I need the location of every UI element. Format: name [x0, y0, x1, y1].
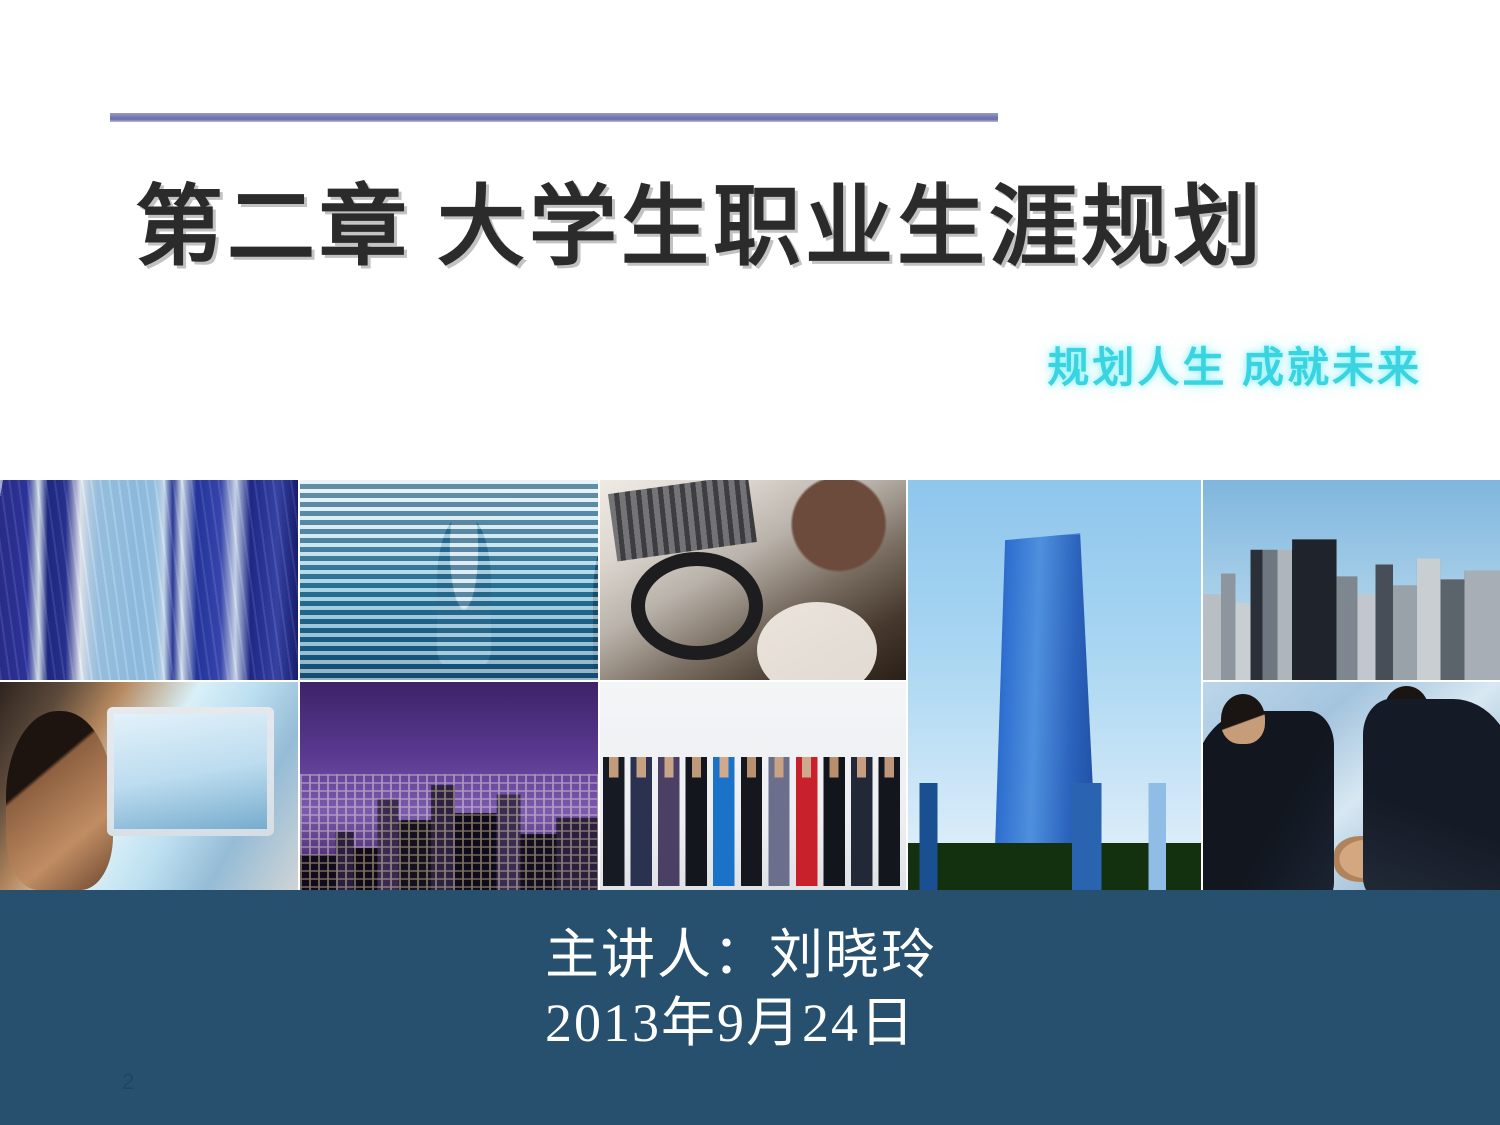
collage-tile-night-city-skyline [300, 682, 598, 890]
colleagues-blinds-image [300, 480, 598, 680]
collage-tile-business-handshake [1203, 682, 1500, 890]
footer-band: 主讲人：刘晓玲 2013年9月24日 [0, 890, 1500, 1125]
collage-tile-grey-city-skyline [1203, 480, 1500, 680]
business-people-row-image [600, 682, 906, 890]
collage-tile-glass-towers-looking-up [0, 480, 298, 680]
title-area: 第二章 大学生职业生涯规划 规划人生 成就未来 [0, 0, 1500, 480]
page-subtitle: 规划人生 成就未来 [1047, 334, 1422, 395]
desk-phone-image [600, 480, 906, 680]
glass-towers-image [0, 480, 298, 680]
night-city-image [300, 682, 598, 890]
collage-tile-colleagues-behind-blinds [300, 480, 598, 680]
presenter-block: 主讲人：刘晓玲 2013年9月24日 [545, 922, 937, 1057]
page-number: 2 [122, 1071, 134, 1093]
slide-canvas: 第二章 大学生职业生涯规划 规划人生 成就未来 [0, 0, 1500, 1125]
image-collage [0, 480, 1500, 890]
collage-tile-tall-blue-skyscraper [908, 480, 1201, 890]
handshake-person-right [1384, 686, 1429, 736]
presenter-name: 主讲人：刘晓玲 [545, 922, 937, 990]
collage-tile-hands-on-desk-phone [600, 480, 906, 680]
woman-on-phone-image [0, 682, 298, 890]
handshake-hands [1334, 836, 1399, 882]
collage-tile-woman-on-phone-at-monitor [0, 682, 298, 890]
handshake-image [1203, 682, 1500, 890]
handshake-person-left [1221, 694, 1266, 744]
grey-skyline-image [1203, 480, 1500, 680]
title-divider-rule [110, 113, 998, 122]
presentation-date: 2013年9月24日 [545, 990, 937, 1058]
collage-tile-row-of-business-people [600, 682, 906, 890]
tall-skyscraper-image [908, 480, 1201, 890]
page-title: 第二章 大学生职业生涯规划 [0, 178, 1400, 279]
